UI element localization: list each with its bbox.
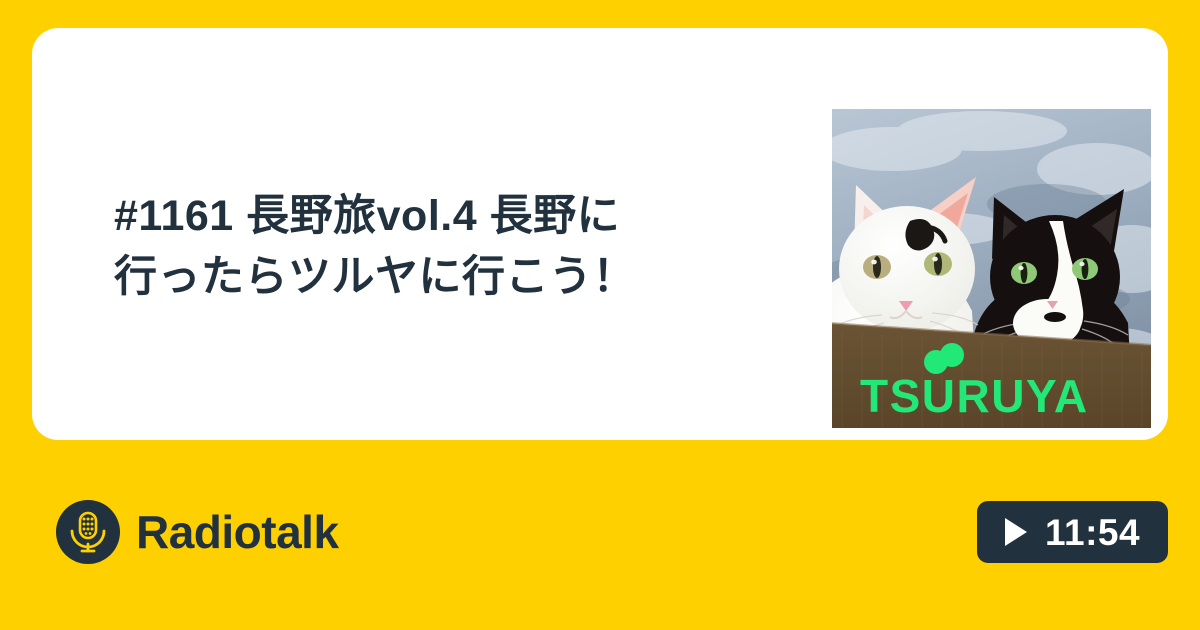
duration-text: 11:54 [1045, 514, 1140, 551]
svg-text:TSURUYA: TSURUYA [860, 370, 1089, 422]
episode-title: #1161 長野旅vol.4 長野に 行ったらツルヤに行こう！ [114, 186, 764, 308]
radiotalk-wordmark: Radiotalk [136, 509, 339, 555]
episode-cover-image: TSURUYA [832, 109, 1151, 428]
play-icon [1005, 518, 1027, 546]
episode-card: #1161 長野旅vol.4 長野に 行ったらツルヤに行こう！ [32, 28, 1168, 440]
duration-badge[interactable]: 11:54 [977, 501, 1168, 563]
radiotalk-brand: Radiotalk [56, 500, 339, 564]
microphone-icon [56, 500, 120, 564]
